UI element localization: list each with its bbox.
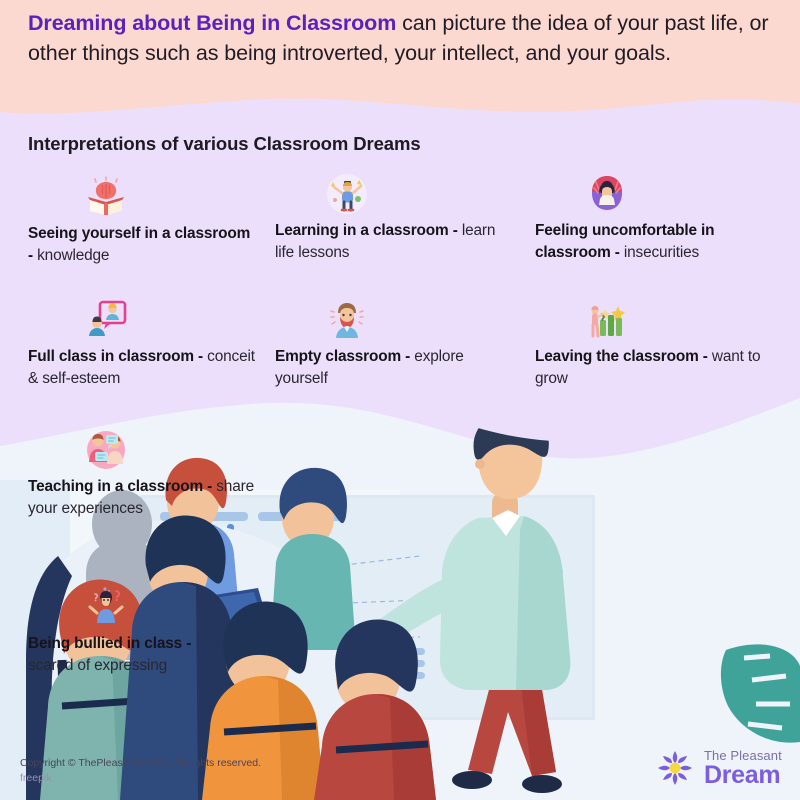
- list-item-text: Empty classroom - explore yourself: [275, 346, 505, 390]
- student-celebrating-icon: [325, 172, 369, 216]
- growth-chart-icon: [585, 298, 629, 342]
- page-title: Interpretations of various Classroom Dre…: [28, 133, 421, 155]
- list-item-rest: scared of expressing: [28, 657, 167, 674]
- list-item-leaving-classroom: Leaving the classroom - want to grow: [535, 298, 775, 390]
- image-credit-text: freepik: [20, 771, 52, 786]
- list-item-empty-classroom: Empty classroom - explore yourself: [275, 298, 505, 390]
- flower-logo-icon: [655, 748, 695, 788]
- header-headline: Dreaming about Being in Classroom can pi…: [28, 8, 776, 68]
- logo-wordmark: The Pleasant Dream: [704, 749, 782, 788]
- confused-person-icon: [84, 585, 128, 629]
- list-item-feeling-uncomfortable: Feeling uncomfortable in classroom - ins…: [535, 172, 780, 264]
- list-item-full-class: Full class in classroom - conceit & self…: [28, 298, 268, 390]
- list-item-bold: Empty classroom -: [275, 348, 414, 365]
- teaching-pair-icon: [84, 428, 128, 472]
- list-item-text: Feeling uncomfortable in classroom - ins…: [535, 220, 780, 264]
- list-item-learning: Learning in a classroom - learn life les…: [275, 172, 505, 264]
- list-item-text: Leaving the classroom - want to grow: [535, 346, 775, 390]
- list-item-bold: Full class in classroom -: [28, 348, 207, 365]
- list-item-text: Teaching in a classroom - share your exp…: [28, 476, 268, 520]
- copyright-text: Copyright © ThePleasantDream, All rights…: [20, 756, 261, 771]
- list-item-text: Seeing yourself in a classroom - knowled…: [28, 223, 258, 267]
- list-item-text: Being bullied in class - scared of expre…: [28, 633, 213, 677]
- list-item-bold: Teaching in a classroom -: [28, 478, 216, 495]
- header-highlight: Dreaming about Being in Classroom: [28, 11, 396, 35]
- list-item-text: Learning in a classroom - learn life les…: [275, 220, 505, 264]
- list-item-text: Full class in classroom - conceit & self…: [28, 346, 268, 390]
- list-item-bold: Leaving the classroom -: [535, 348, 712, 365]
- bearded-man-icon: [325, 298, 369, 342]
- list-item-bold: Being bullied in class -: [28, 635, 191, 652]
- infographic-canvas: Dreaming about Being in Classroom can pi…: [0, 0, 800, 800]
- logo-line-1: The Pleasant: [704, 749, 782, 762]
- list-item-teaching: Teaching in a classroom - share your exp…: [28, 428, 268, 520]
- logo-line-2: Dream: [704, 763, 782, 788]
- header-banner: Dreaming about Being in Classroom can pi…: [0, 0, 800, 126]
- worried-woman-icon: [585, 172, 629, 216]
- list-item-rest: knowledge: [37, 247, 109, 264]
- book-brain-icon: [84, 175, 128, 219]
- list-item-rest: insecurities: [624, 244, 699, 261]
- list-item-being-bullied: Being bullied in class - scared of expre…: [28, 585, 213, 677]
- video-call-icon: [84, 298, 128, 342]
- list-item-seeing-yourself: Seeing yourself in a classroom - knowled…: [28, 175, 258, 267]
- list-item-bold: Learning in a classroom -: [275, 222, 462, 239]
- brand-logo[interactable]: The Pleasant Dream: [655, 748, 782, 788]
